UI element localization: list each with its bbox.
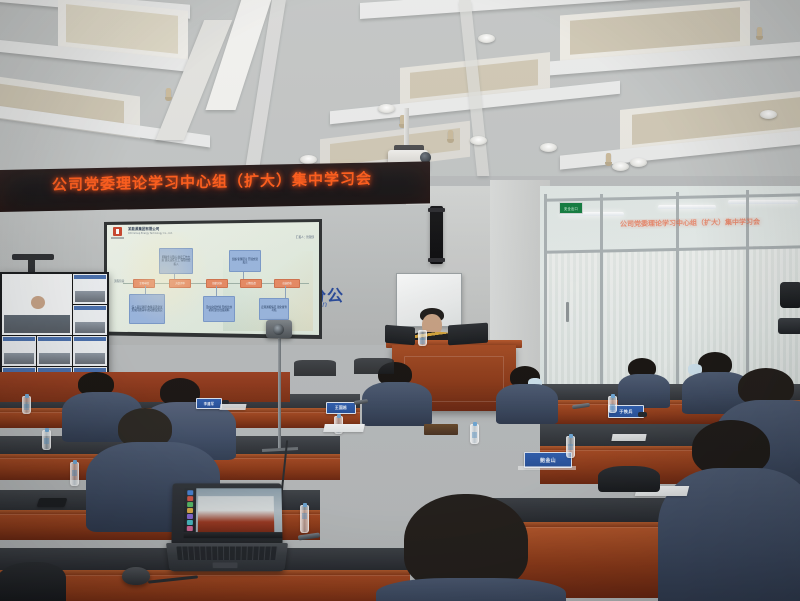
water-bottle <box>608 396 617 413</box>
company-logo-icon <box>113 227 122 236</box>
name-placard: 李建军 <box>196 398 222 409</box>
downlight <box>478 34 495 43</box>
downlight <box>760 110 777 119</box>
screen-dock <box>184 488 197 538</box>
flow-connector <box>216 286 217 296</box>
placard-name: 鲍金山 <box>540 457 556 464</box>
document-papers <box>611 434 646 441</box>
water-bottle <box>300 505 309 533</box>
water-bottle <box>42 430 51 450</box>
wood-wainscot <box>0 372 290 402</box>
flow-box: 明确学习目标 制定工作方案 落实责任分工 保障经费投入 <box>159 248 193 274</box>
flow-connector <box>285 286 286 298</box>
flow-stage: 组织实施 <box>206 279 228 288</box>
slide-subtitle: XXX Group Energy Technology Co., Ltd. <box>128 232 173 235</box>
video-tile <box>2 336 36 366</box>
camera-lens-icon <box>273 324 284 335</box>
downlight <box>540 143 557 152</box>
placard-name: 王国栋 <box>335 405 347 411</box>
sprinkler-head <box>606 153 611 164</box>
logo-subtext <box>111 237 124 239</box>
wall-mount-bracket <box>778 318 800 334</box>
water-bottle <box>418 330 427 346</box>
glass-door-handle[interactable] <box>566 302 569 322</box>
flow-stage: 方案评审 <box>169 279 191 288</box>
foreground-laptop[interactable] <box>166 483 288 579</box>
video-tile <box>73 305 107 335</box>
ceiling-tube-light <box>658 205 716 209</box>
camera-tripod-stand <box>278 333 281 451</box>
flow-box: 定期通报情况 强化督查考核 <box>259 298 289 320</box>
flow-box: 深入基层调研 收集意见建议 形成问题清单 推动整改落实 <box>129 294 165 324</box>
chair-back <box>354 358 394 374</box>
attendee-torso <box>362 382 432 426</box>
water-bottle <box>470 424 479 444</box>
downlight <box>630 158 647 167</box>
screen-taskbar <box>184 532 283 538</box>
flow-box: 及时总结经验 形成长效机制 建立档案资料 <box>203 296 235 322</box>
laptop-video-feed <box>198 496 274 532</box>
slide-corner-note: 汇报人：管理部 <box>296 235 314 239</box>
microphone-base <box>638 412 647 417</box>
smartphone <box>37 498 68 507</box>
sprinkler-head <box>757 27 762 38</box>
flow-stage: 立项申请 <box>133 279 155 288</box>
exit-sign-label: 安全出口 <box>564 206 578 211</box>
flow-connector <box>145 286 146 294</box>
notebook <box>424 424 458 435</box>
video-tile-main <box>2 274 72 335</box>
laptop-keyboard[interactable] <box>176 547 277 561</box>
laptop-lid <box>171 483 282 545</box>
attendee-torso <box>618 374 670 408</box>
exit-sign: 安全出口 <box>559 202 583 214</box>
downlight <box>612 162 629 171</box>
placard-name: 于铁兵 <box>619 409 632 415</box>
attendee-hair <box>404 494 528 590</box>
wall-speaker <box>430 206 443 264</box>
wall-camera <box>780 282 800 308</box>
projection-screen: 某能源集团有限公司 XXX Group Energy Technology Co… <box>107 222 319 335</box>
ceiling-tube-light <box>728 200 798 204</box>
podium-laptop-right <box>448 323 488 346</box>
chair-back <box>294 360 336 376</box>
conference-room-photo: 古分公 lia Bran 公司党委理论学习中心组（扩大）集中学习会 某能源集团有… <box>0 0 800 601</box>
name-placard: 王国栋 <box>326 402 356 414</box>
water-bottle <box>70 462 79 486</box>
chair-back <box>598 466 660 492</box>
sprinkler-head <box>448 130 453 141</box>
laptop-keyboard-base[interactable] <box>166 543 288 571</box>
video-tile <box>37 336 71 366</box>
placard-name: 李建军 <box>204 401 214 406</box>
document-papers <box>219 404 246 410</box>
downlight <box>470 136 487 145</box>
computer-mouse[interactable] <box>122 567 150 585</box>
window-mullion <box>600 194 603 416</box>
flow-stage: 过程监督 <box>240 279 262 288</box>
flow-box: 组织专题研讨 开展交流发言 <box>229 250 261 272</box>
video-tile <box>73 336 107 366</box>
chair-back <box>0 562 66 601</box>
slide-title: 某能源集团有限公司 <box>128 226 159 231</box>
flow-axis-label: 流程阶段 <box>114 279 124 283</box>
water-bottle <box>22 396 31 414</box>
downlight <box>300 155 317 164</box>
document-papers <box>323 424 365 432</box>
placard-base <box>518 466 576 470</box>
window-mullion <box>544 194 547 416</box>
flow-stage: 总结验收 <box>274 279 300 288</box>
laptop-trackpad[interactable] <box>213 562 238 568</box>
podium-laptop-left <box>385 325 415 346</box>
attendee-torso <box>496 384 558 424</box>
attendee-torso <box>376 578 566 601</box>
water-bottle <box>566 436 575 458</box>
video-tile <box>73 274 107 304</box>
laptop-screen <box>184 488 283 538</box>
downlight <box>378 104 395 113</box>
sprinkler-head <box>166 88 171 99</box>
